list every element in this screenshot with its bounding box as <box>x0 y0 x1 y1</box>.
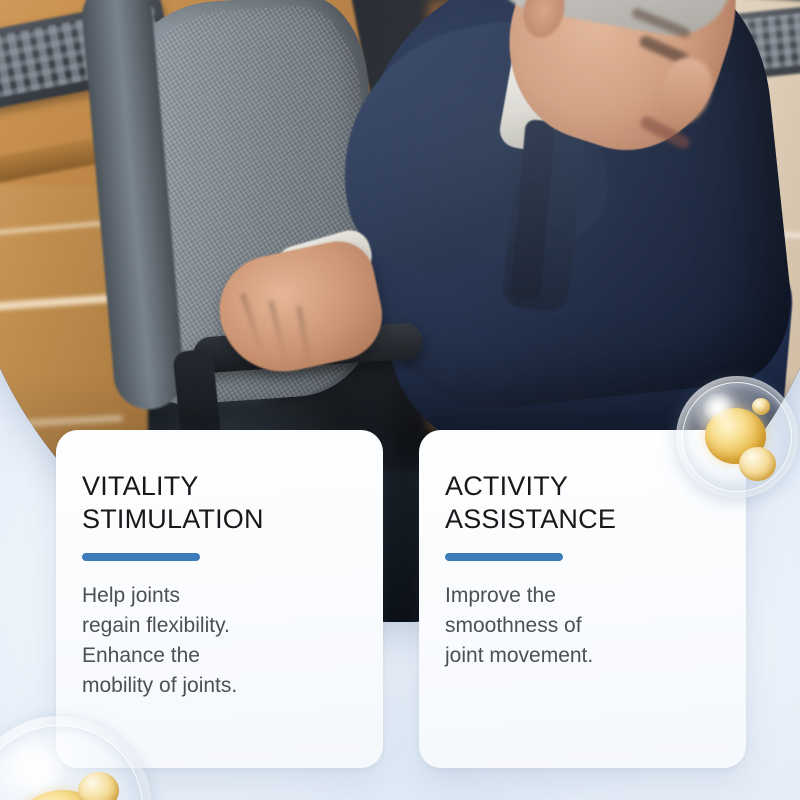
capsule-oil-droplet-small <box>78 772 119 800</box>
accent-rule <box>82 553 200 561</box>
feature-card-title: VITALITY STIMULATION <box>82 470 353 536</box>
feature-card-title: ACTIVITY ASSISTANCE <box>445 470 716 536</box>
accent-rule <box>445 553 563 561</box>
feature-card-list: VITALITY STIMULATION Help joints regain … <box>56 430 746 768</box>
capsule-oil-droplet-small <box>739 447 776 481</box>
promo-poster: VITALITY STIMULATION Help joints regain … <box>0 0 800 800</box>
feature-card-description: Help joints regain flexibility. Enhance … <box>82 581 353 701</box>
feature-card-vitality-stimulation[interactable]: VITALITY STIMULATION Help joints regain … <box>56 430 383 768</box>
softgel-capsule-icon <box>676 376 798 498</box>
capsule-highlight <box>7 746 70 794</box>
feature-card-description: Improve the smoothness of joint movement… <box>445 581 716 671</box>
capsule-oil-droplet-tiny <box>752 398 770 415</box>
